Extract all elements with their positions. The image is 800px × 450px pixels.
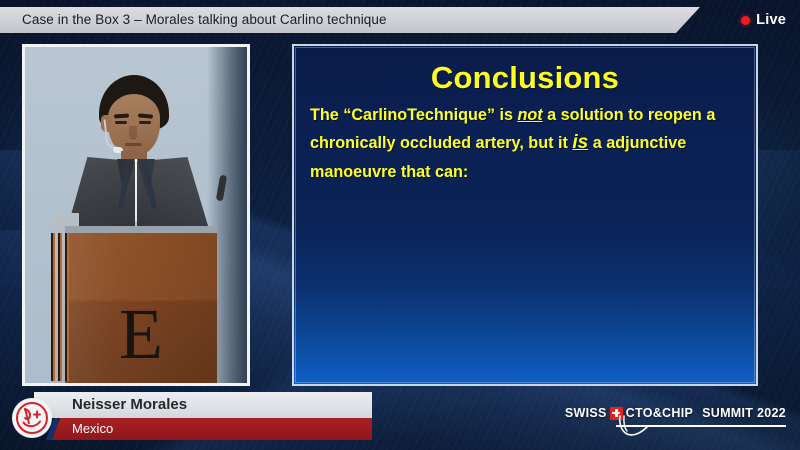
live-label: Live — [756, 12, 786, 28]
event-logo-word-summit: SUMMIT 2022 — [702, 406, 786, 420]
speaker-country: Mexico — [72, 418, 113, 440]
event-logo-swoosh-icon — [614, 414, 670, 438]
broadcast-stage: Case in the Box 3 – Morales talking abou… — [0, 0, 800, 450]
podium-letter: E — [65, 291, 217, 377]
speaker-mouth — [125, 143, 142, 146]
header-bar: Case in the Box 3 – Morales talking abou… — [0, 7, 700, 33]
speaker-name: Neisser Morales — [72, 392, 187, 418]
presentation-slide[interactable]: Conclusions The “CarlinoTechnique” is no… — [292, 44, 758, 386]
slide-body-emphasis-is: is — [572, 132, 588, 153]
slide-body-part1: The “CarlinoTechnique” is — [310, 106, 517, 124]
slide-body-text: The “CarlinoTechnique” is not a solution… — [310, 102, 744, 185]
speaker-video-panel[interactable]: E — [22, 44, 250, 386]
event-logo-word-swiss: SWISS — [565, 406, 607, 420]
speaker-eye-left — [115, 121, 127, 124]
heart-cross-icon — [14, 400, 50, 436]
live-badge: Live — [741, 7, 786, 33]
header-title: Case in the Box 3 – Morales talking abou… — [22, 7, 387, 33]
lower-third: Neisser Morales Mexico — [0, 392, 372, 442]
slide-title: Conclusions — [294, 60, 756, 96]
event-logo: SWISS CTO&CHIP SUMMIT 2022 — [606, 404, 786, 438]
speaker-nose — [129, 126, 137, 140]
slide-body-emphasis-not: not — [517, 106, 542, 124]
live-dot-icon — [741, 16, 750, 25]
slide-inner-border — [295, 47, 755, 383]
organization-logo — [12, 398, 52, 438]
speaker-eye-right — [139, 121, 151, 124]
